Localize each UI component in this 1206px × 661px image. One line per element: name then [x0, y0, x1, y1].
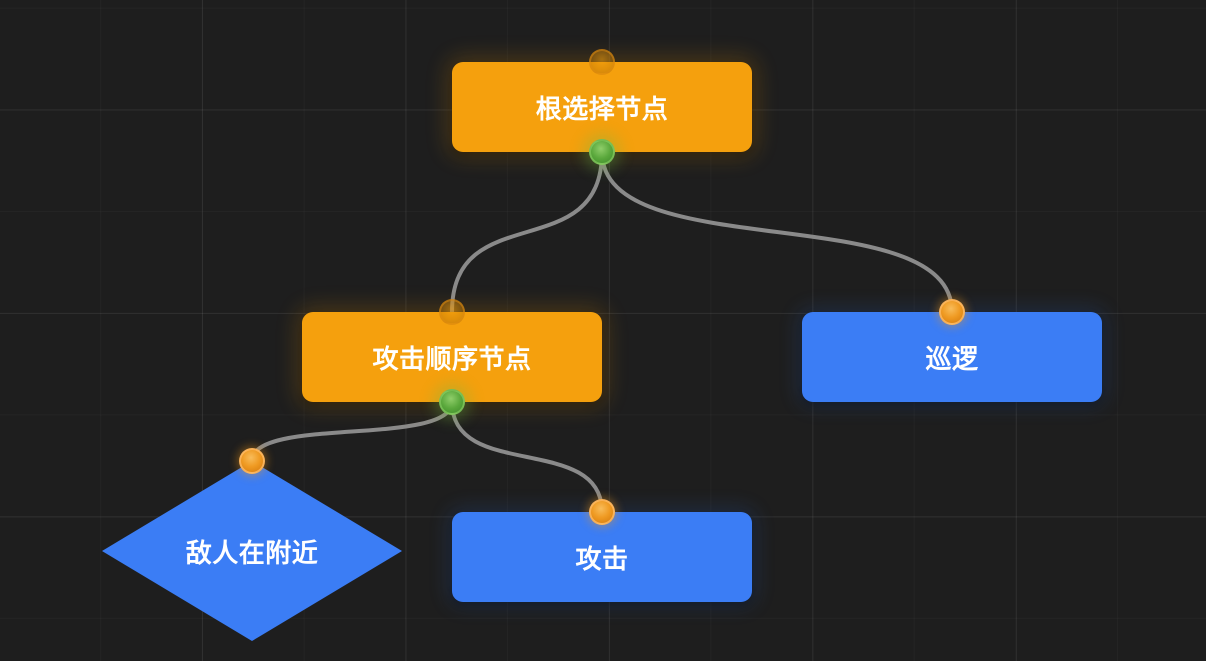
node-label-enemy-near: 敌人在附近 — [186, 533, 319, 570]
bt-node-attack[interactable]: 攻击 — [452, 512, 752, 602]
edge-attack-seq-to-attack[interactable] — [452, 402, 602, 512]
bt-node-enemy-near[interactable]: 敌人在附近 — [102, 461, 402, 641]
output-port-root[interactable] — [589, 139, 615, 165]
behavior-tree-canvas[interactable]: 根选择节点攻击顺序节点巡逻敌人在附近攻击 — [0, 0, 1206, 661]
input-port-attack[interactable] — [589, 499, 615, 525]
bt-node-patrol[interactable]: 巡逻 — [802, 312, 1102, 402]
node-label-attack: 攻击 — [575, 539, 628, 576]
input-port-attack-seq[interactable] — [439, 299, 465, 325]
edge-attack-seq-to-enemy-near[interactable] — [252, 402, 452, 461]
input-port-patrol[interactable] — [939, 299, 965, 325]
output-port-attack-seq[interactable] — [439, 389, 465, 415]
node-label-root: 根选择节点 — [536, 89, 669, 126]
input-port-root[interactable] — [589, 49, 615, 75]
edge-root-to-attack-seq[interactable] — [452, 152, 602, 312]
node-label-attack-seq: 攻击顺序节点 — [372, 339, 531, 376]
node-label-patrol: 巡逻 — [925, 339, 978, 376]
edge-root-to-patrol[interactable] — [602, 152, 952, 312]
input-port-enemy-near[interactable] — [239, 448, 265, 474]
